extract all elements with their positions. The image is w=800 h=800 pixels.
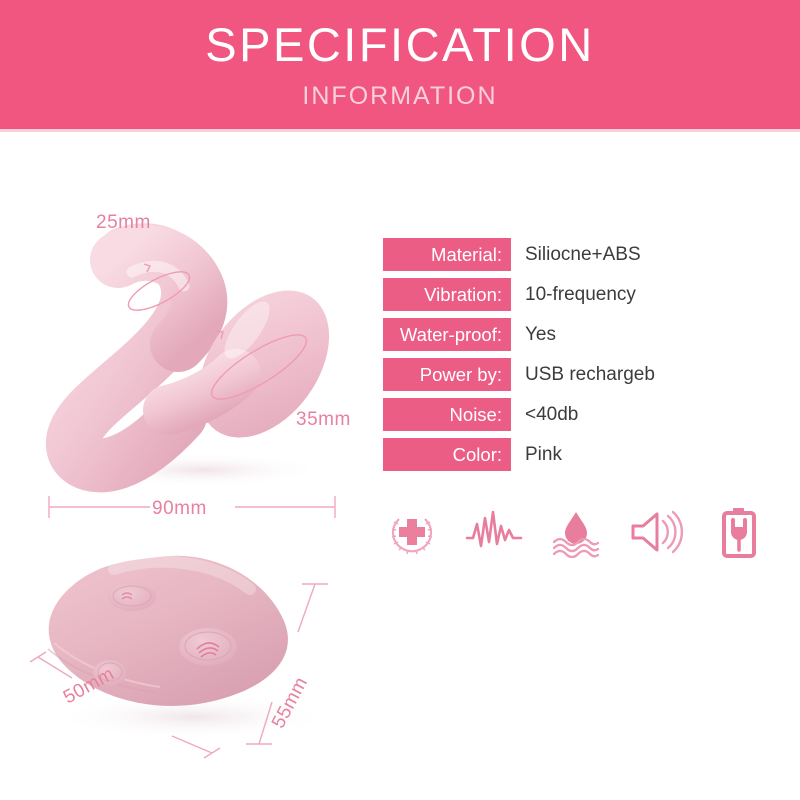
spec-row-material: Material: Siliocne+ABS — [383, 238, 713, 271]
spec-value-vibration: 10-frequency — [511, 284, 636, 306]
dimension-label-girth-upper-arm: 25mm — [96, 212, 151, 234]
spec-value-noise: <40db — [511, 404, 578, 426]
spec-label-noise: Noise: — [383, 398, 511, 431]
usb-rechargeable-battery-icon — [710, 503, 768, 561]
dimension-label-girth-lower-bulb: 35mm — [296, 409, 351, 431]
header-banner-underline — [0, 129, 800, 132]
dual-vibrator-product-photo — [28, 198, 368, 508]
page-title: SPECIFICATION — [0, 20, 800, 69]
medical-cross-wreath-icon — [383, 503, 441, 561]
spec-row-water-proof: Water-proof: Yes — [383, 318, 713, 351]
spec-label-water-proof: Water-proof: — [383, 318, 511, 351]
vibration-waveform-icon — [465, 503, 523, 561]
wireless-remote-product-photo — [18, 545, 368, 780]
specification-table: Material: Siliocne+ABS Vibration: 10-fre… — [383, 238, 713, 478]
dimension-label-overall-length: 90mm — [152, 498, 207, 520]
page-subtitle: INFORMATION — [0, 82, 800, 111]
spec-label-power-by: Power by: — [383, 358, 511, 391]
spec-value-power-by: USB rechargeb — [511, 364, 655, 386]
spec-row-color: Color: Pink — [383, 438, 713, 471]
spec-value-water-proof: Yes — [511, 324, 556, 346]
waterproof-droplet-icon — [547, 503, 605, 561]
spec-row-power-by: Power by: USB rechargeb — [383, 358, 713, 391]
specification-page: SPECIFICATION INFORMATION — [0, 0, 800, 800]
low-noise-speaker-icon — [628, 503, 686, 561]
spec-label-vibration: Vibration: — [383, 278, 511, 311]
spec-value-color: Pink — [511, 444, 562, 466]
spec-value-material: Siliocne+ABS — [511, 244, 641, 266]
spec-label-color: Color: — [383, 438, 511, 471]
feature-icon-strip — [383, 503, 768, 561]
spec-label-material: Material: — [383, 238, 511, 271]
spec-row-vibration: Vibration: 10-frequency — [383, 278, 713, 311]
spec-row-noise: Noise: <40db — [383, 398, 713, 431]
